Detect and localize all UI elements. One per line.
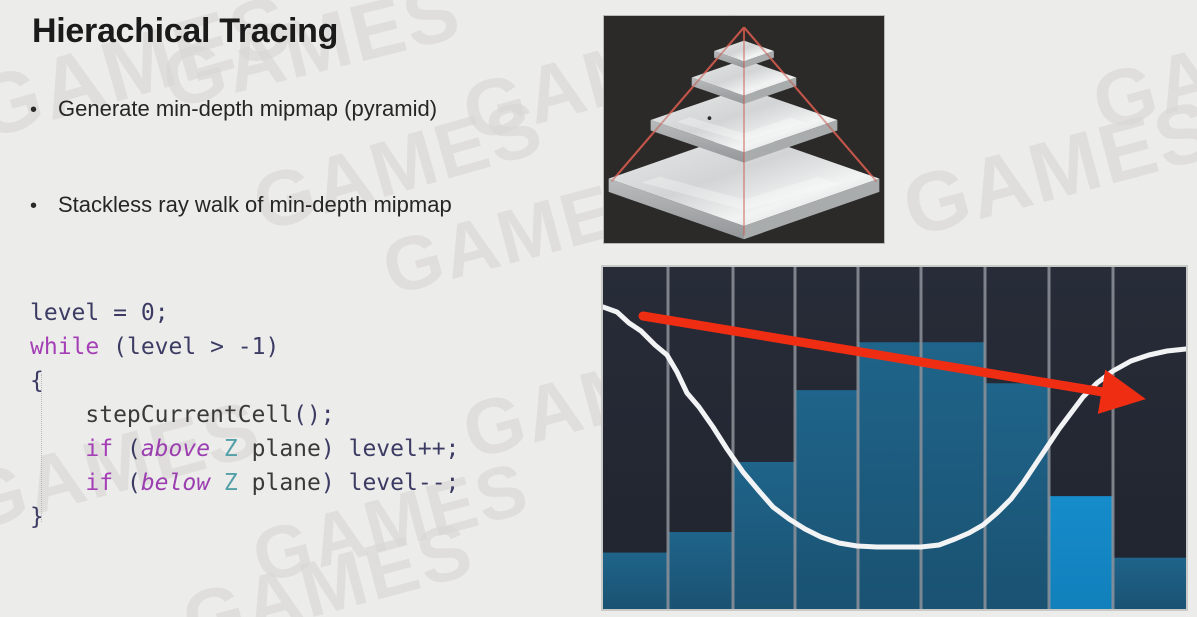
code-line: } (30, 500, 459, 534)
code-token: level (349, 470, 418, 496)
watermark: GAMES (1083, 0, 1197, 150)
code-token: ; (155, 300, 169, 326)
code-token: --; (418, 470, 460, 496)
mipmap-cell-current (1049, 496, 1113, 609)
code-token (210, 436, 224, 462)
mipmap-cell-fill (795, 390, 858, 609)
code-token (238, 470, 252, 496)
code-token: 0 (141, 300, 155, 326)
code-token (127, 300, 141, 326)
code-token: ) (321, 470, 335, 496)
code-token: ( (113, 334, 127, 360)
page-title: Hierachical Tracing (32, 12, 338, 51)
code-token: = (113, 300, 127, 326)
code-token: ) (321, 436, 335, 462)
code-token: stepCurrentCell (85, 402, 293, 428)
watermark: GAMES (893, 80, 1197, 256)
bullet-item: • Generate min-depth mipmap (pyramid) (30, 96, 437, 122)
mipmap-cell-fill (1113, 558, 1186, 609)
code-line: level = 0; (30, 296, 459, 330)
indent-guide-line (41, 374, 42, 522)
code-token: ) (266, 334, 280, 360)
code-token: Z (224, 436, 238, 462)
code-token (335, 470, 349, 496)
code-token (113, 436, 127, 462)
mipmap-cell-fill (668, 532, 733, 609)
code-token (196, 334, 210, 360)
code-token: plane (252, 470, 321, 496)
code-line: while (level > -1) (30, 330, 459, 364)
code-token: ( (127, 470, 141, 496)
code-token (210, 470, 224, 496)
code-token: Z (224, 470, 238, 496)
code-token: level (127, 334, 196, 360)
pyramid-svg (604, 16, 884, 243)
code-token: ++; (418, 436, 460, 462)
code-line: stepCurrentCell(); (30, 398, 459, 432)
bullet-marker-icon: • (30, 196, 58, 216)
code-block: level = 0;while (level > -1){ stepCurren… (30, 296, 459, 534)
code-token: -1 (238, 334, 266, 360)
code-token: above (141, 436, 210, 462)
code-token (99, 300, 113, 326)
mipmap-svg (603, 267, 1186, 609)
code-token: level (30, 300, 99, 326)
code-token (224, 334, 238, 360)
mipmap-cell-fill (858, 342, 921, 609)
bullet-item: • Stackless ray walk of min-depth mipmap (30, 192, 452, 218)
mipmap-cell-fill (985, 383, 1049, 609)
code-token: while (30, 334, 99, 360)
code-token (99, 334, 113, 360)
mipmap-cell-fill (603, 553, 668, 609)
mipmap-cell-fill (921, 342, 985, 609)
code-token: > (210, 334, 224, 360)
code-line: { (30, 364, 459, 398)
code-token: if (85, 470, 113, 496)
min-depth-pyramid-figure (604, 16, 884, 243)
code-token (113, 470, 127, 496)
code-token: below (141, 470, 210, 496)
bullet-marker-icon: • (30, 100, 58, 120)
code-token (238, 436, 252, 462)
code-token: level (349, 436, 418, 462)
code-token (335, 436, 349, 462)
bullet-text: Stackless ray walk of min-depth mipmap (58, 192, 452, 218)
code-line: if (above Z plane) level++; (30, 432, 459, 466)
slide-root: GAMES GAMES GAMES GAMES GAMES GAMES GAME… (0, 0, 1197, 617)
mipmap-cell-fill (733, 462, 795, 609)
bullet-text: Generate min-depth mipmap (pyramid) (58, 96, 437, 122)
code-token: plane (252, 436, 321, 462)
min-depth-mipmap-figure (603, 267, 1186, 609)
code-token: ( (127, 436, 141, 462)
code-token: (); (293, 402, 335, 428)
mipmap-cells-group (603, 267, 1186, 609)
code-line: if (below Z plane) level--; (30, 466, 459, 500)
code-token: if (85, 436, 113, 462)
